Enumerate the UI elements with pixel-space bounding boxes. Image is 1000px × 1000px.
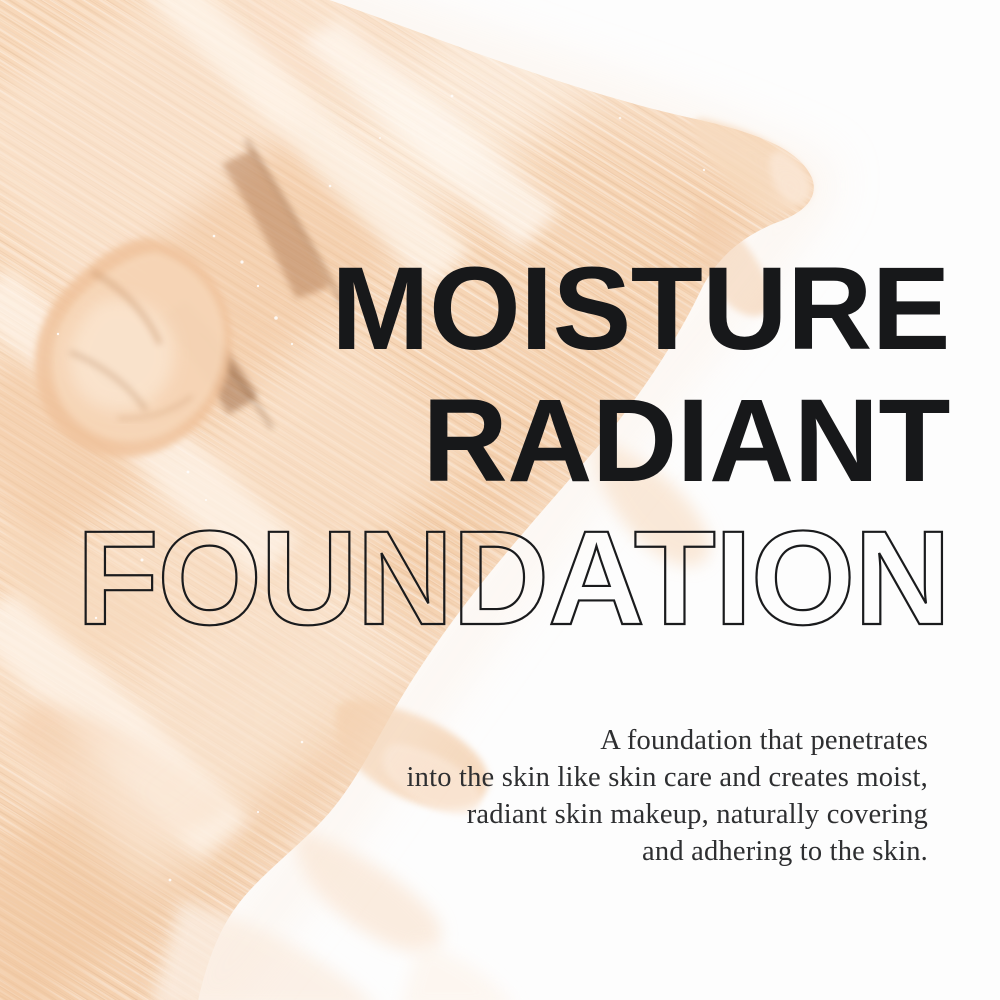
headline-line-radiant: RADIANT — [0, 384, 950, 500]
headline-line-moisture: MOISTURE — [0, 252, 950, 368]
headline-line-foundation-outline: FOUNDATION — [0, 513, 950, 644]
product-description: A foundation that penetrates into the sk… — [0, 722, 928, 870]
description-line-3: radiant skin makeup, naturally covering — [0, 796, 928, 833]
description-line-4: and adhering to the skin. — [0, 833, 928, 870]
poster-canvas: MOISTURE RADIANT FOUNDATION A foundation… — [0, 0, 1000, 1000]
headline-block: MOISTURE RADIANT FOUNDATION — [0, 252, 950, 645]
description-line-1: A foundation that penetrates — [0, 722, 928, 759]
description-line-2: into the skin like skin care and creates… — [0, 759, 928, 796]
